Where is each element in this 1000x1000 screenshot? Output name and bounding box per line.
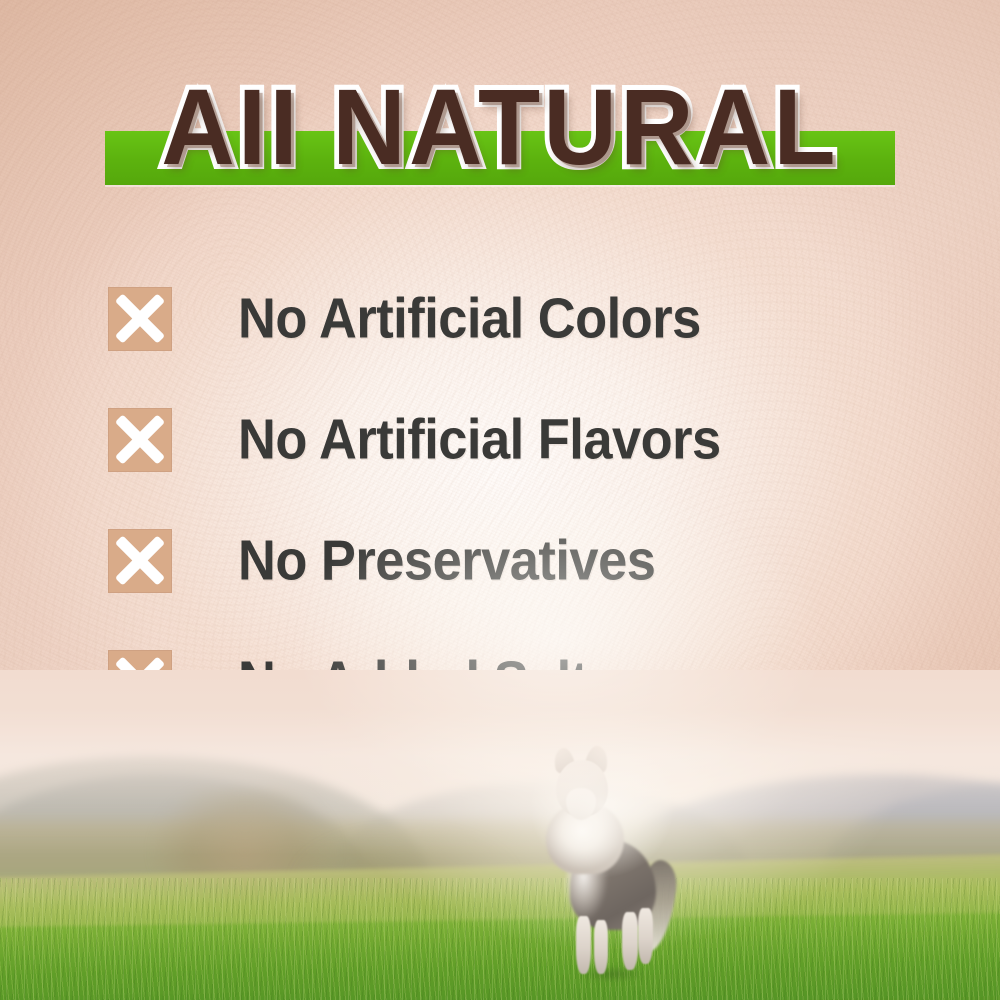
checklist-item-label: No Artificial Colors [238, 286, 701, 350]
dog-front-leg-left [576, 916, 591, 974]
checklist-item: No Artificial Colors [108, 258, 928, 379]
banner-title-text: AII NATURAL [0, 70, 1000, 186]
checklist-item: No Artificial Flavors [108, 379, 928, 500]
dog-border-collie [536, 748, 682, 978]
dog-front-leg-right [594, 920, 608, 974]
x-mark-icon [108, 529, 172, 593]
dog-back-leg-left [622, 912, 638, 970]
photo-grass-texture [0, 878, 1000, 1000]
landscape-photo [0, 670, 1000, 1000]
title-banner: AII NATURAL [0, 76, 1000, 191]
checklist-item-label: No Artificial Flavors [238, 407, 721, 471]
checklist-item-label: No Preservatives [238, 528, 655, 592]
product-feature-poster: AII NATURAL No Artificial Colors No Arti… [0, 0, 1000, 1000]
checklist-item: No Preservatives [108, 500, 928, 621]
x-mark-icon [108, 408, 172, 472]
x-mark-icon [108, 287, 172, 351]
dog-back-leg-right [638, 908, 653, 964]
